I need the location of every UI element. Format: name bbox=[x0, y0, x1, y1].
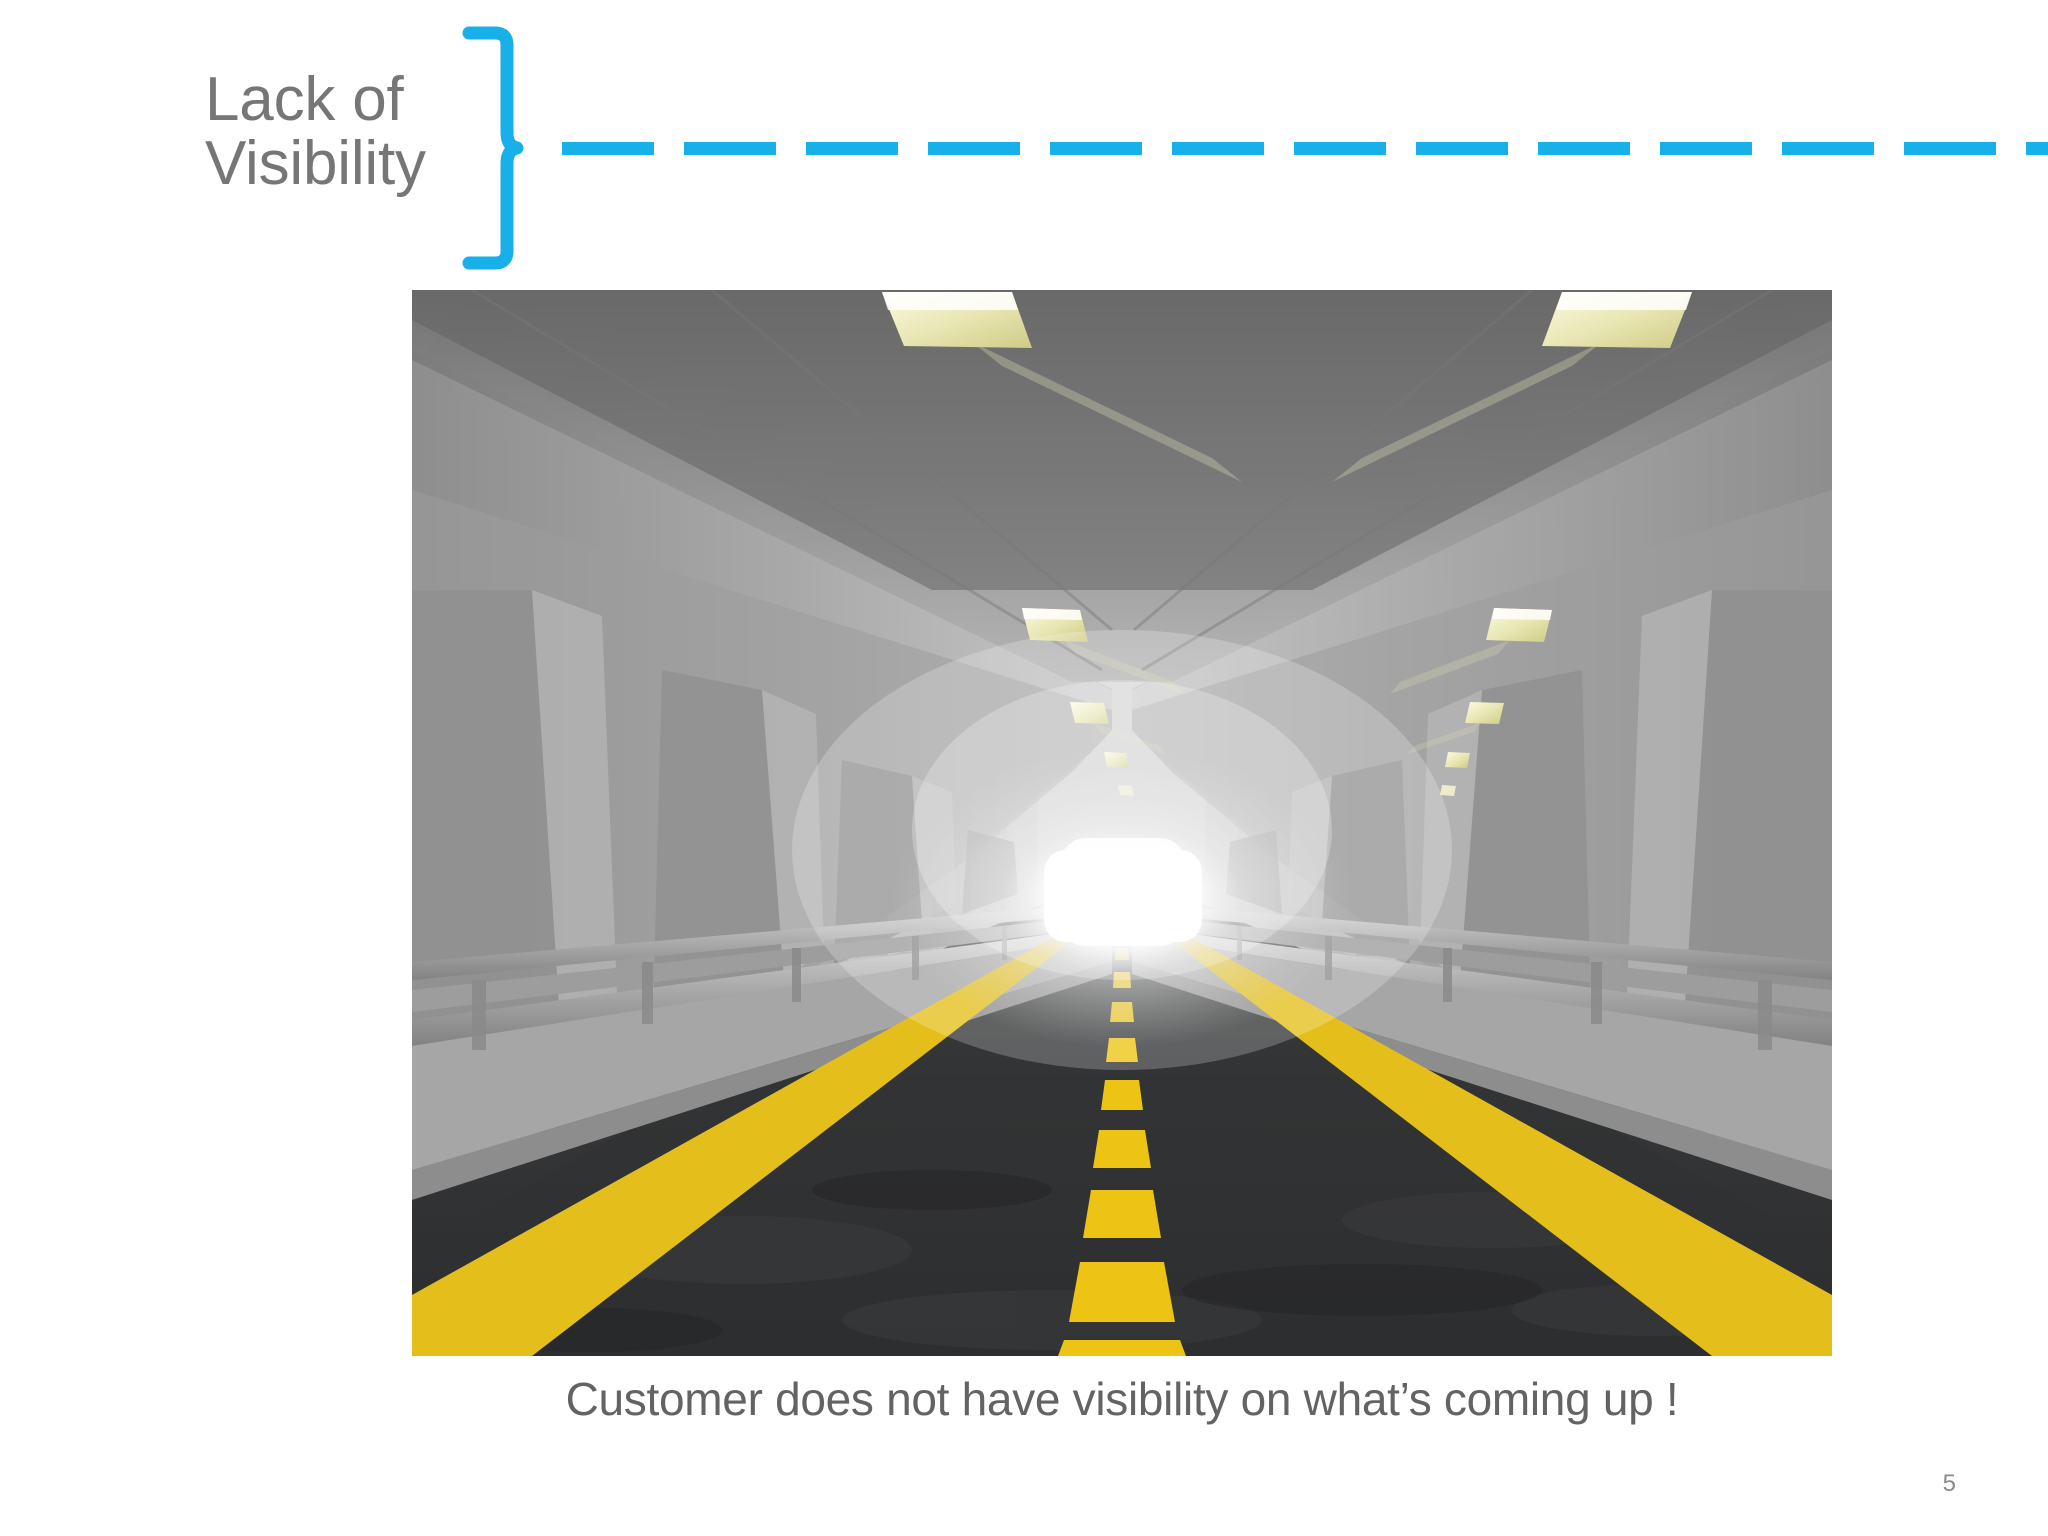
page-title: Lack of Visibility bbox=[205, 68, 455, 197]
figure-caption: Customer does not have visibility on wha… bbox=[412, 1372, 1832, 1426]
curly-brace-right-icon bbox=[455, 25, 535, 275]
dashed-divider bbox=[562, 142, 2048, 155]
slide-canvas: Lack of Visibility bbox=[0, 0, 2048, 1536]
tunnel-image bbox=[412, 290, 1832, 1356]
page-number: 5 bbox=[1943, 1470, 1956, 1498]
